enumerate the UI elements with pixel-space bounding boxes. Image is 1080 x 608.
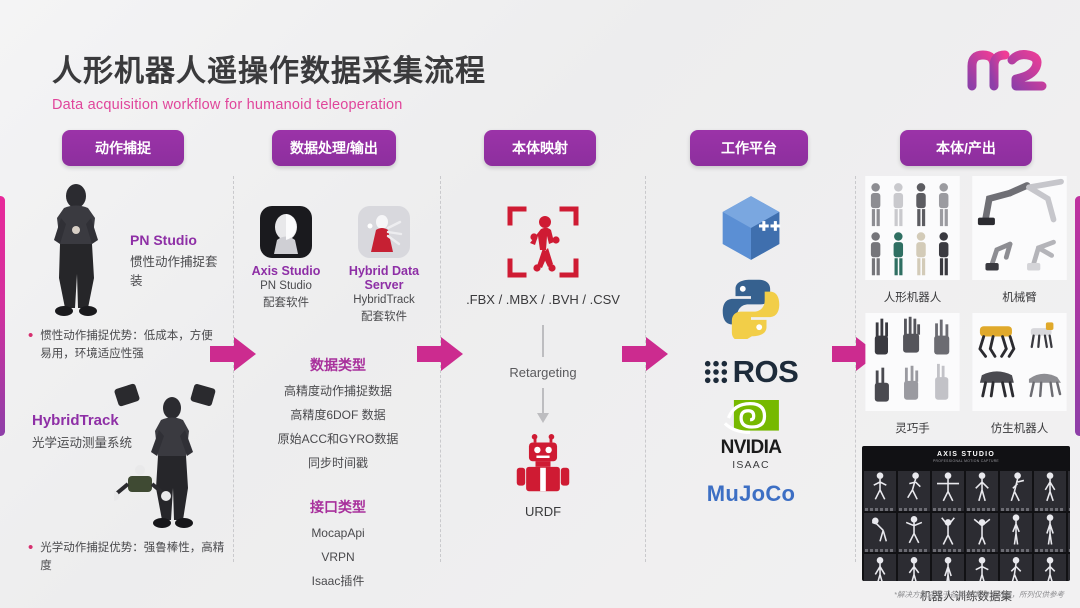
output-label: 机械臂 [969, 289, 1070, 305]
page-subtitle: Data acquisition workflow for humanoid t… [52, 97, 486, 113]
device-1-sub: 惯性动作捕捉套装 [130, 251, 229, 289]
nvidia-isaac-logo: NVIDIA ISAAC [721, 400, 782, 471]
output-bionic-robots: 仿生机器人 [969, 313, 1070, 436]
robotic-arms-image [969, 176, 1070, 280]
dataset-cell [864, 554, 896, 581]
dataset-thumbnail-grid [862, 469, 1070, 581]
dataset-cell [1068, 471, 1070, 511]
app-1-line2: 配套软件 [240, 295, 332, 312]
mujoco-logo: MuJoCo [707, 481, 796, 507]
dataset-cell [932, 513, 964, 553]
output-dexterous-hands: 灵巧手 [862, 313, 963, 436]
data-types-title: 数据类型 [240, 355, 436, 375]
flow-line-top [542, 325, 544, 357]
dexterous-hands-image [862, 313, 963, 411]
column-mapping: .FBX / .MBX / .BVH / .CSV Retargeting [446, 176, 640, 562]
device-2-sub: 光学运动测量系统 [32, 432, 132, 451]
dataset-cell [1034, 554, 1066, 581]
stage-chip-capture[interactable]: 动作捕捉 [62, 130, 184, 166]
data-type-item: 高精度动作捕捉数据 [240, 379, 436, 403]
column-outputs: 人形机器人 机械臂 [862, 176, 1070, 576]
dataset-cell [864, 471, 896, 511]
dataset-cell [1034, 471, 1066, 511]
pn-studio-suit-image [30, 182, 122, 318]
capture-bullet-1: • 惯性动作捕捉优势：低成本，方便易用，环境适应性强 [28, 328, 218, 364]
dataset-cell [932, 554, 964, 581]
data-types-block: 数据类型 高精度动作捕捉数据 高精度6DOF 数据 原始ACC和GYRO数据 同… [240, 355, 436, 475]
interface-item: MocapApi [240, 521, 436, 545]
dataset-cell [966, 554, 998, 581]
output-robotic-arms: 机械臂 [969, 176, 1070, 305]
column-capture: PN Studio 惯性动作捕捉套装 • 惯性动作捕捉优势：低成本，方便易用，环… [14, 176, 229, 562]
app-2-line2: 配套软件 [332, 309, 436, 326]
dataset-cell [1000, 513, 1032, 553]
dataset-cell [864, 513, 896, 553]
stage-chip-processing[interactable]: 数据处理/输出 [272, 130, 396, 166]
right-accent-bar [1075, 196, 1080, 436]
device-2-name: HybridTrack [32, 412, 132, 429]
flow-line-bottom [542, 388, 544, 422]
data-type-item: 同步时间戳 [240, 451, 436, 475]
app-hybrid-data-server[interactable]: Hybrid Data Server HybridTrack 配套软件 [332, 206, 436, 327]
hybridtrack-image [114, 382, 224, 537]
dataset-cell [1034, 513, 1066, 553]
dataset-cell [1000, 471, 1032, 511]
stage-chip-output[interactable]: 本体/产出 [900, 130, 1032, 166]
dataset-cell [1068, 513, 1070, 553]
dataset-cell [966, 471, 998, 511]
left-accent-bar [0, 196, 5, 436]
output-label: 人形机器人 [862, 289, 963, 305]
motion-capture-person-icon [446, 206, 640, 278]
cpp-logo [720, 194, 782, 267]
output-label: 灵巧手 [862, 420, 963, 436]
interface-item: VRPN [240, 545, 436, 569]
dataset-brand-sub: PROFESSIONAL MOTION CAPTURE [862, 459, 1070, 463]
data-type-item: 高精度6DOF 数据 [240, 403, 436, 427]
n2-brand-logo [966, 46, 1050, 94]
app-2-name: Hybrid Data Server [332, 264, 436, 292]
stage-chip-mapping[interactable]: 本体映射 [484, 130, 596, 166]
dataset-cell [1000, 554, 1032, 581]
robot-icon [446, 434, 640, 494]
interface-title: 接口类型 [240, 497, 436, 517]
column-platforms: ROS NVIDIA ISAAC MuJoCo [652, 176, 850, 562]
interface-item: Isaac插件 [240, 569, 436, 593]
urdf-label: URDF [446, 504, 640, 519]
humanoid-robots-image [862, 176, 963, 280]
dataset-cell [1068, 554, 1070, 581]
footnote: *解决方案适用于各类本体/自主机器，所列仅供参考 [894, 589, 1064, 600]
dataset-cell [898, 554, 930, 581]
page-title: 人形机器人遥操作数据采集流程 [52, 46, 486, 90]
dataset-cell [898, 513, 930, 553]
stage-chip-platform[interactable]: 工作平台 [690, 130, 808, 166]
training-dataset-panel: AXIS STUDIO PROFESSIONAL MOTION CAPTURE [862, 446, 1070, 581]
column-processing: Axis Studio PN Studio 配套软件 Hybrid Data S… [240, 176, 436, 562]
bullet-dot-icon: • [28, 540, 33, 576]
device-1-name: PN Studio [130, 232, 229, 248]
app-1-line1: PN Studio [240, 278, 332, 295]
dataset-cell [898, 471, 930, 511]
format-label: .FBX / .MBX / .BVH / .CSV [446, 292, 640, 307]
device-1-text: PN Studio 惯性动作捕捉套装 [130, 232, 229, 289]
ros-logo: ROS [704, 354, 799, 390]
app-2-line1: HybridTrack [332, 292, 436, 309]
stage-chip-row: 动作捕捉 数据处理/输出 本体映射 工作平台 本体/产出 [0, 130, 1080, 168]
device-2-text: HybridTrack 光学运动测量系统 [32, 412, 132, 451]
data-type-item: 原始ACC和GYRO数据 [240, 427, 436, 451]
interface-types-block: 接口类型 MocapApi VRPN Isaac插件 [240, 497, 436, 593]
retargeting-label: Retargeting [446, 365, 640, 380]
header: 人形机器人遥操作数据采集流程 Data acquisition workflow… [52, 46, 486, 113]
output-label: 仿生机器人 [969, 420, 1070, 436]
bionic-robots-image [969, 313, 1070, 411]
ros-label: ROS [733, 354, 799, 390]
bullet-dot-icon: • [28, 328, 33, 364]
output-humanoid-robots: 人形机器人 [862, 176, 963, 305]
app-1-name: Axis Studio [240, 264, 332, 278]
app-axis-studio[interactable]: Axis Studio PN Studio 配套软件 [240, 206, 332, 327]
dataset-cell [966, 513, 998, 553]
python-logo [720, 277, 782, 344]
dataset-cell [932, 471, 964, 511]
dataset-brand: AXIS STUDIO [862, 451, 1070, 458]
dataset-brand-header: AXIS STUDIO PROFESSIONAL MOTION CAPTURE [862, 446, 1070, 469]
capture-bullet-2: • 光学动作捕捉优势：强鲁棒性，高精度 [28, 540, 228, 576]
